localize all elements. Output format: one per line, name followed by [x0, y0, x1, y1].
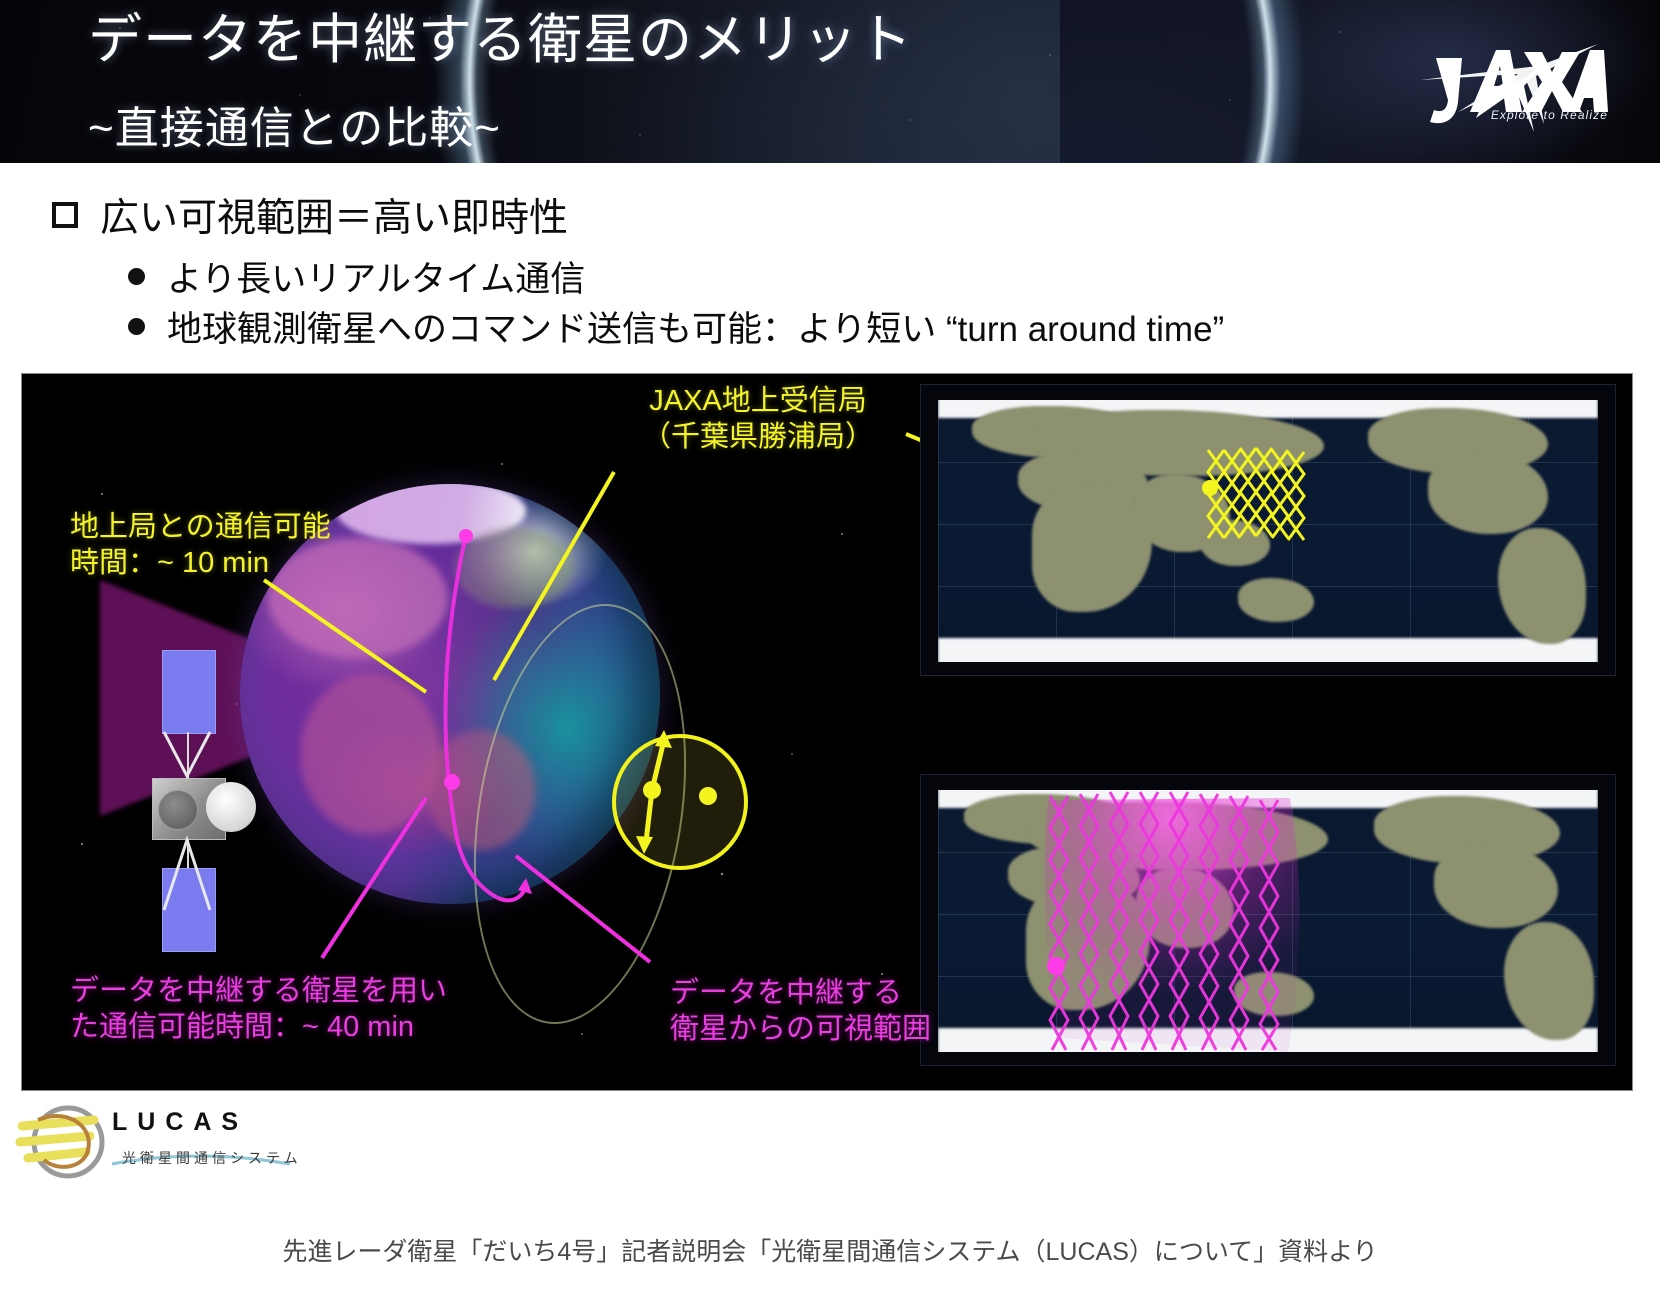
- connector-relay-window: [322, 798, 426, 958]
- direct-coverage-crosshatch: [938, 400, 1598, 662]
- relay-coverage-crosshatch: [938, 790, 1598, 1052]
- label-ground-contact-window: 地上局との通信可能 時間：~ 10 min: [70, 510, 331, 582]
- lucas-subtitle: 光衛星間通信システム: [122, 1148, 302, 1168]
- square-bullet-icon: [52, 202, 78, 228]
- lucas-wordmark: LUCAS: [112, 1108, 248, 1137]
- bullet-main: 広い可視範囲＝高い即時性: [52, 187, 568, 243]
- page-title: データを中継する衛星のメリット: [88, 12, 913, 69]
- ground-station-marker: [1202, 480, 1218, 496]
- bullet-sub-1: より長いリアルタイム通信: [128, 251, 585, 302]
- connector-ground-window: [264, 580, 426, 692]
- map-canvas: [938, 790, 1598, 1052]
- world-map-direct-coverage: [920, 384, 1616, 676]
- bullet-sub-1-label: より長いリアルタイム通信: [167, 251, 585, 302]
- bullet-sub-2: 地球観測衛星へのコマンド送信も可能：より短い “turn around time…: [128, 301, 1224, 352]
- dot-bullet-icon: [128, 318, 145, 335]
- bullet-sub-2-label: 地球観測衛星へのコマンド送信も可能：より短い “turn around time…: [167, 301, 1224, 352]
- world-map-relay-coverage: [920, 774, 1616, 1066]
- dot-bullet-icon: [128, 268, 145, 285]
- jaxa-logo-tagline: Explore to Realize: [1418, 108, 1608, 122]
- connector-jaxa-station: [494, 472, 614, 680]
- label-relay-coverage: データを中継する 衛星からの可視範囲: [670, 976, 931, 1048]
- connector-relay-coverage: [516, 856, 650, 962]
- jaxa-logo-icon: [1418, 28, 1608, 140]
- relay-satellite-marker: [1047, 957, 1065, 975]
- slide-header: データを中継する衛星のメリット ~直接通信との比較~ Explore to Re…: [0, 0, 1660, 163]
- map-canvas: [938, 400, 1598, 662]
- bullet-main-label: 広い可視範囲＝高い即時性: [100, 187, 568, 243]
- comparison-figure-panel: 地上局との通信可能 時間：~ 10 min JAXA地上受信局 （千葉県勝浦局）…: [22, 374, 1632, 1090]
- label-relay-contact-window: データを中継する衛星を用い た通信可能時間：~ 40 min: [70, 974, 447, 1046]
- source-note: 先進レーダ衛星「だいち4号」記者説明会「光衛星間通信システム（LUCAS）につい…: [0, 1232, 1660, 1268]
- label-jaxa-ground-station: JAXA地上受信局 （千葉県勝浦局）: [642, 384, 874, 456]
- page-subtitle: ~直接通信との比較~: [88, 92, 501, 156]
